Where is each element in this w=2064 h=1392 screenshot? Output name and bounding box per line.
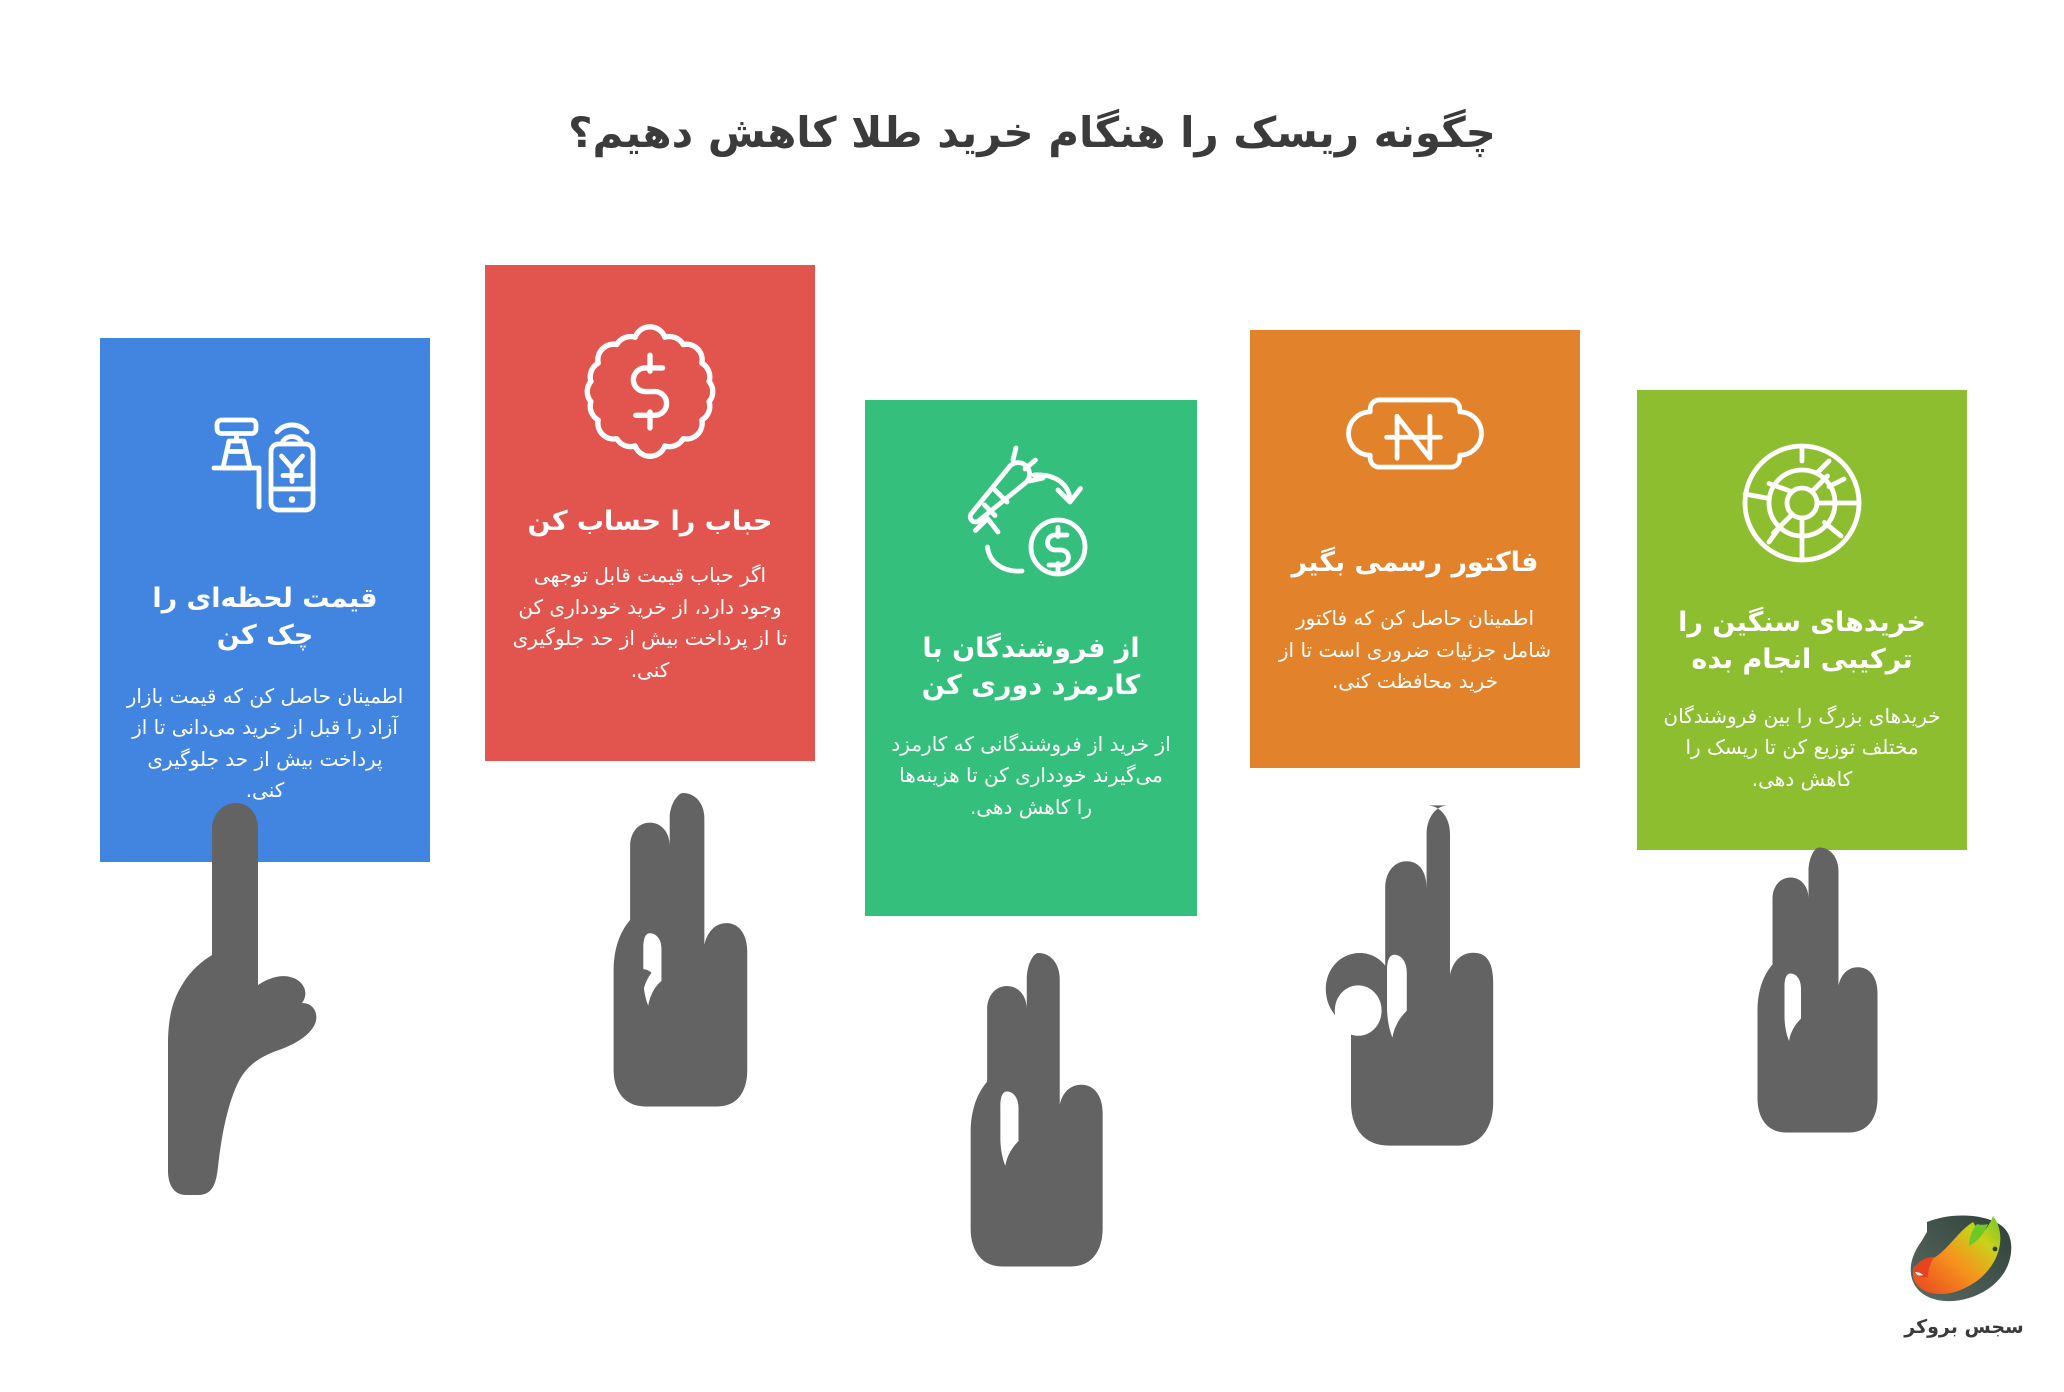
page-title: چگونه ریسک را هنگام خرید طلا کاهش دهیم؟ <box>0 108 2064 157</box>
pointing-hand-3 <box>950 948 1120 1278</box>
card-avoid-fee-sellers[interactable]: از فروشندگان با کارمزد دوری کن از خرید ا… <box>865 400 1197 916</box>
card-title: از فروشندگان با کارمزد دوری کن <box>891 630 1171 705</box>
card-title: فاکتور رسمی بگیر <box>1276 544 1554 581</box>
card-title: قیمت لحظه‌ای را چک کن <box>126 580 404 655</box>
brand-logo[interactable]: سجس بروکر <box>1884 1204 2044 1364</box>
pointing-hand-5 <box>1738 838 1888 1148</box>
pointing-hand-1 <box>148 795 348 1195</box>
card-title: خریدهای سنگین را ترکیبی انجام بده <box>1663 604 1941 679</box>
card-body: خریدهای بزرگ را بین فروشندگان مختلف توزی… <box>1663 701 1941 796</box>
card-title: حباب را حساب کن <box>511 503 789 540</box>
card-body: اطمینان حاصل کن که قیمت بازار آزاد را قب… <box>126 681 404 807</box>
card-check-live-price[interactable]: قیمت لحظه‌ای را چک کن اطمینان حاصل کن که… <box>100 338 430 862</box>
card-official-invoice[interactable]: فاکتور رسمی بگیر اطمینان حاصل کن که فاکت… <box>1250 330 1580 768</box>
card-calculate-bubble[interactable]: حباب را حساب کن اگر حباب قیمت قابل توجهی… <box>485 265 815 761</box>
pointing-hand-2 <box>588 788 758 1118</box>
infographic-canvas: چگونه ریسک را هنگام خرید طلا کاهش دهیم؟ <box>0 0 2064 1392</box>
dollar-badge-icon <box>511 305 789 475</box>
card-body: اطمینان حاصل کن که فاکتور شامل جزئیات ضر… <box>1276 603 1554 698</box>
naira-ticket-icon <box>1276 374 1554 514</box>
card-body: اگر حباب قیمت قابل توجهی وجود دارد، از خ… <box>511 560 789 686</box>
radial-diversification-icon <box>1663 428 1941 578</box>
card-body: از خرید از فروشندگانی که کارمزد می‌گیرند… <box>891 729 1171 824</box>
pos-terminal-phone-icon <box>126 382 404 542</box>
barter-exchange-icon <box>891 440 1171 600</box>
pointing-hand-4 <box>1310 800 1500 1160</box>
card-split-large-purchases[interactable]: خریدهای سنگین را ترکیبی انجام بده خریدها… <box>1637 390 1967 850</box>
brand-logo-text: سجس بروکر <box>1884 1316 2044 1338</box>
bull-bear-logo-icon <box>1899 1204 2029 1314</box>
